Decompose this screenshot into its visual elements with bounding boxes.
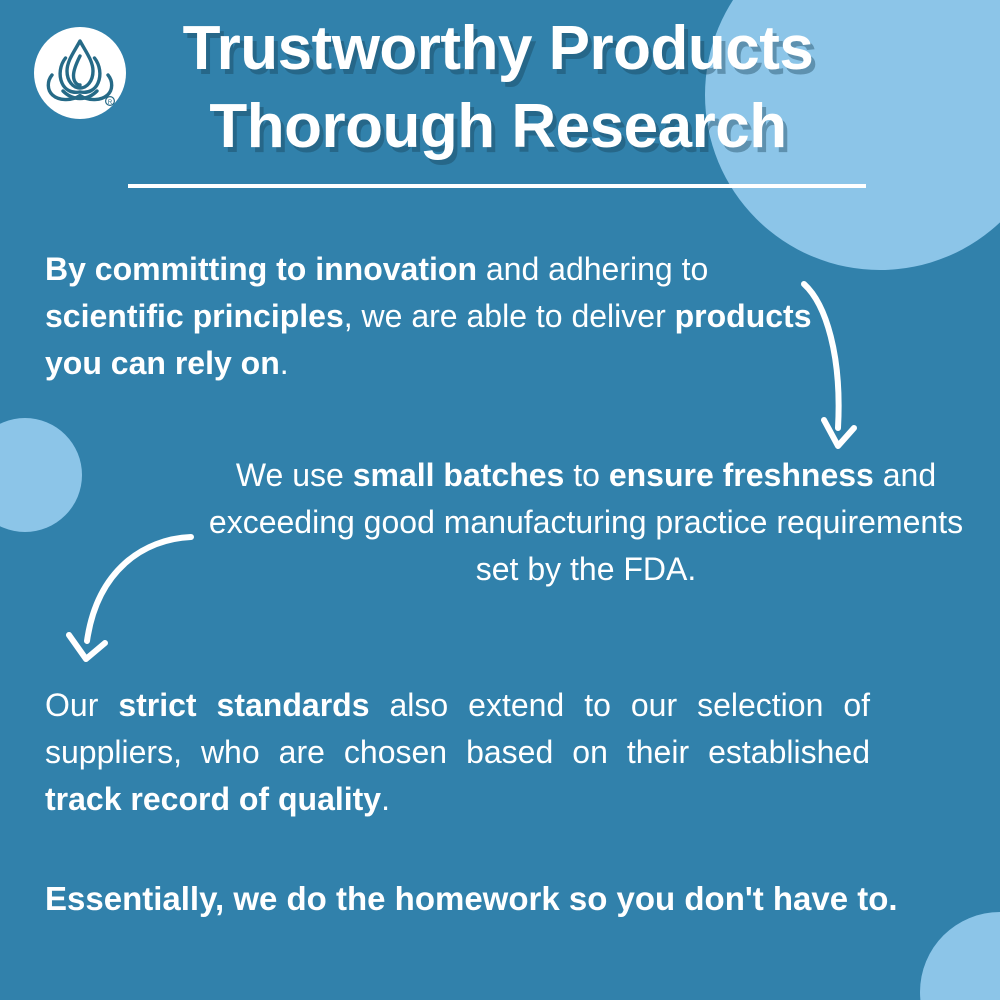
svg-text:R: R bbox=[108, 100, 113, 106]
decorative-circle-left bbox=[0, 418, 82, 532]
emphasis-text: small batches bbox=[353, 457, 565, 493]
page-title: Trustworthy Products Thorough Research bbox=[128, 10, 868, 166]
body-text: We use bbox=[236, 457, 353, 493]
title-line-1: Trustworthy Products bbox=[128, 10, 868, 88]
body-paragraph-3: Our strict standards also extend to our … bbox=[45, 682, 870, 823]
body-text: . bbox=[280, 345, 289, 381]
body-paragraph-1: By committing to innovation and adhering… bbox=[45, 246, 835, 387]
emphasis-text: track record of quality bbox=[45, 781, 381, 817]
title-line-2: Thorough Research bbox=[128, 88, 868, 166]
emphasis-text: Essentially, we do the homework so you d… bbox=[45, 880, 898, 917]
emphasis-text: ensure freshness bbox=[609, 457, 874, 493]
emphasis-text: scientific principles bbox=[45, 298, 344, 334]
decorative-circle-bottom-right bbox=[920, 912, 1000, 1000]
marketing-graphic-canvas: R Trustworthy Products Thorough Research… bbox=[0, 0, 1000, 1000]
body-text: , we are able to deliver bbox=[344, 298, 675, 334]
title-underline bbox=[128, 184, 866, 188]
body-paragraph-2: We use small batches to ensure freshness… bbox=[196, 452, 976, 593]
lotus-flame-logo-icon: R bbox=[30, 23, 130, 123]
curved-arrow-down-left-icon bbox=[55, 515, 215, 675]
body-paragraph-4-closing: Essentially, we do the homework so you d… bbox=[45, 877, 975, 921]
body-text: and adhering to bbox=[477, 251, 708, 287]
emphasis-text: By committing to innovation bbox=[45, 251, 477, 287]
emphasis-text: strict standards bbox=[118, 687, 369, 723]
body-text: . bbox=[381, 781, 390, 817]
body-text: to bbox=[564, 457, 608, 493]
body-text: Our bbox=[45, 687, 118, 723]
